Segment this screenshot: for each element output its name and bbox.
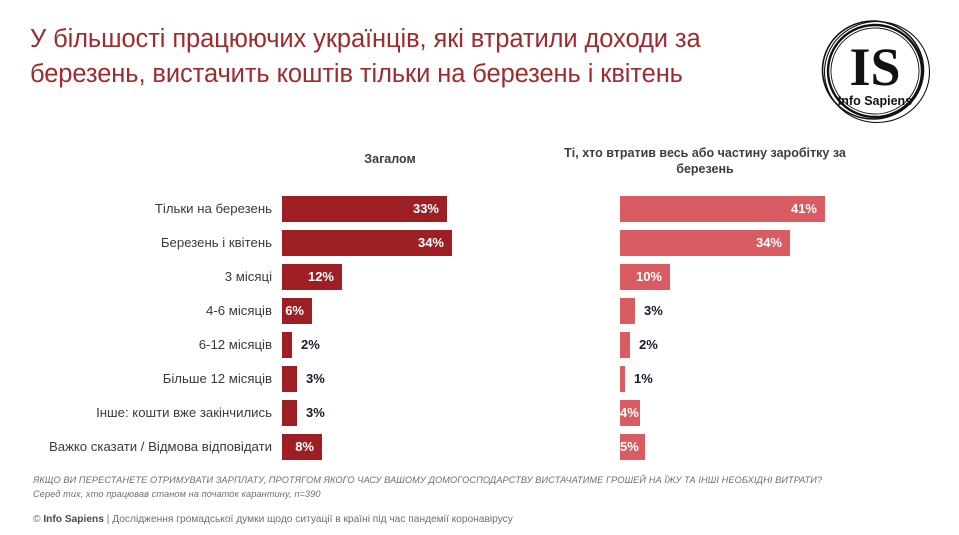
bar-value-label: 10% [620,264,670,290]
footnote-base: Серед тих, хто працював станом на почато… [33,489,321,499]
bar-row: 3% [282,366,582,400]
category-label: Тільки на березень [10,196,272,230]
category-label: Важко сказати / Відмова відповідати [10,434,272,468]
bar-value-label: 34% [282,230,452,256]
bar[interactable] [282,400,297,426]
bar-row: 34% [620,230,950,264]
bar-chart-lost-income: 41%34%10%3%2%1%4%5% [620,196,950,476]
bar-row: 1% [620,366,950,400]
credit-study: Дослідження громадської думки щодо ситуа… [112,514,513,525]
bar-value-label: 34% [620,230,790,256]
bar-row: 3% [282,400,582,434]
logo-wordmark: Info Sapiens [838,94,912,108]
category-label: Інше: кошти вже закінчились [10,400,272,434]
category-axis: Тільки на березеньБерезень і квітень3 мі… [10,196,272,468]
bar-row: 10% [620,264,950,298]
bar-value-label: 3% [644,298,663,324]
bar[interactable] [282,366,297,392]
bar-value-label: 33% [282,196,447,222]
logo-monogram: IS [849,37,900,97]
bar-value-label: 2% [639,332,658,358]
credit-copyright: © [33,514,43,525]
bar-row: 4% [620,400,950,434]
category-label: 3 місяці [10,264,272,298]
info-sapiens-logo: IS Info Sapiens [814,17,936,125]
bar-value-label: 41% [620,196,825,222]
bar-row: 33% [282,196,582,230]
bar-row: 3% [620,298,950,332]
bar[interactable] [282,332,292,358]
bar-row: 12% [282,264,582,298]
credit-separator: | [104,514,112,525]
bar-value-label: 6% [282,298,312,324]
bar[interactable] [620,298,635,324]
bar-value-label: 8% [282,434,322,460]
bar[interactable] [620,366,625,392]
bar-value-label: 5% [620,434,645,460]
bar-row: 8% [282,434,582,468]
footnote: ЯКЩО ВИ ПЕРЕСТАНЕТЕ ОТРИМУВАТИ ЗАРПЛАТУ,… [33,473,833,501]
logo-icon: IS Info Sapiens [814,17,936,125]
category-label: 6-12 місяців [10,332,272,366]
bar-row: 34% [282,230,582,264]
bar-row: 6% [282,298,582,332]
category-label: Більше 12 місяців [10,366,272,400]
bar-value-label: 3% [306,400,325,426]
bar-value-label: 3% [306,366,325,392]
bar-chart-total: 33%34%12%6%2%3%3%8% [282,196,582,476]
credit-brand: Info Sapiens [43,514,104,525]
category-label: Березень і квітень [10,230,272,264]
bar-value-label: 4% [620,400,640,426]
bar-value-label: 12% [282,264,342,290]
header: У більшості працюючих українців, які втр… [0,0,959,140]
page-title: У більшості працюючих українців, які втр… [30,22,790,92]
bar-value-label: 2% [301,332,320,358]
bar-row: 2% [282,332,582,366]
category-label: 4-6 місяців [10,298,272,332]
bar-row: 41% [620,196,950,230]
bar[interactable] [620,332,630,358]
bar-row: 5% [620,434,950,468]
chart-heading-total: Загалом [300,152,480,168]
chart-heading-lost-income: Ті, хто втратив весь або частину заробіт… [545,146,865,177]
bar-row: 2% [620,332,950,366]
bar-value-label: 1% [634,366,653,392]
credit-line: © Info Sapiens | Дослідження громадської… [33,514,513,525]
footnote-question: ЯКЩО ВИ ПЕРЕСТАНЕТЕ ОТРИМУВАТИ ЗАРПЛАТУ,… [33,475,822,485]
